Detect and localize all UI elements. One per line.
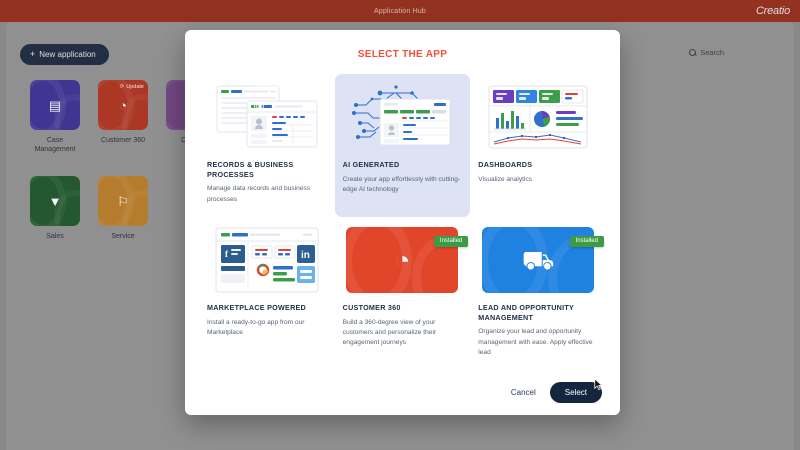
card-illustration bbox=[478, 81, 598, 153]
app-icon: ◔ bbox=[119, 99, 127, 112]
card-title: RECORDS & BUSINESS PROCESSES bbox=[207, 160, 327, 179]
app-icon: ◔ bbox=[395, 247, 411, 273]
marketplace-illustration: fin bbox=[215, 227, 319, 293]
app-icon: ▼ bbox=[49, 195, 62, 208]
installed-badge: Installed bbox=[570, 236, 604, 247]
app-type-card-field-sales[interactable]: ◔ bbox=[470, 370, 606, 375]
app-icon: ⚐ bbox=[117, 195, 129, 208]
app-type-card-records-business-processes[interactable]: RECORDS & BUSINESS PROCESSESManage data … bbox=[199, 74, 335, 217]
app-icon: ⛟ bbox=[522, 247, 555, 273]
dialog-title: SELECT THE APP bbox=[185, 30, 620, 74]
dialog-body[interactable]: RECORDS & BUSINESS PROCESSESManage data … bbox=[185, 74, 620, 375]
app-type-card-case-management[interactable]: ▤Installed bbox=[199, 370, 335, 375]
app-type-card-customer-360[interactable]: ◔InstalledCUSTOMER 360Build a 360-degree… bbox=[335, 217, 471, 370]
card-illustration: fin bbox=[207, 224, 327, 296]
update-badge[interactable]: ⟳Update bbox=[120, 84, 144, 90]
card-title: AI GENERATED bbox=[343, 160, 463, 170]
app-type-card-ai-generated[interactable]: AI GENERATEDCreate your app effortlessly… bbox=[335, 74, 471, 217]
app-icon: ▦ bbox=[321, 99, 333, 112]
app-icon: ▥ bbox=[253, 99, 265, 112]
app-root: Application Hub Creatio + New applicatio… bbox=[0, 0, 800, 450]
card-illustration bbox=[343, 81, 463, 153]
svg-text:in: in bbox=[301, 250, 310, 261]
card-description: Manage data records and business process… bbox=[207, 184, 327, 204]
cancel-button[interactable]: Cancel bbox=[511, 388, 536, 397]
app-type-card-marketing-campaigns[interactable]: ◱Installed bbox=[335, 370, 471, 375]
card-illustration bbox=[207, 81, 327, 153]
update-badge[interactable]: ⟳Update bbox=[256, 84, 280, 90]
ai-generated-illustration bbox=[350, 83, 454, 151]
dialog-footer: Cancel Select bbox=[185, 375, 620, 415]
card-description: Visualize analytics bbox=[478, 175, 598, 185]
refresh-icon: ⟳ bbox=[256, 84, 261, 90]
card-description: Organize your lead and opportunity manag… bbox=[478, 327, 598, 358]
card-description: Build a 360-degree view of your customer… bbox=[343, 318, 463, 349]
app-type-card-lead-and-opportunity-management[interactable]: ⛟InstalledLEAD AND OPPORTUNITY MANAGEMEN… bbox=[470, 217, 606, 370]
app-icon: ⚑ bbox=[185, 99, 197, 112]
card-title: CUSTOMER 360 bbox=[343, 303, 463, 313]
app-icon: ▤ bbox=[49, 99, 61, 112]
dashboards-illustration bbox=[488, 85, 588, 149]
app-type-card-dashboards[interactable]: DASHBOARDSVisualize analytics bbox=[470, 74, 606, 217]
card-illustration: ⛟Installed bbox=[478, 224, 598, 296]
installed-badge: Installed bbox=[434, 236, 468, 247]
mouse-cursor bbox=[594, 378, 603, 391]
card-title: MARKETPLACE POWERED bbox=[207, 303, 327, 313]
card-description: Create your app effortlessly with cuttin… bbox=[343, 175, 463, 195]
records-illustration bbox=[215, 83, 319, 151]
card-title: LEAD AND OPPORTUNITY MANAGEMENT bbox=[478, 303, 598, 322]
app-type-card-list: RECORDS & BUSINESS PROCESSESManage data … bbox=[199, 74, 606, 375]
card-illustration: ◔Installed bbox=[343, 224, 463, 296]
select-app-dialog: SELECT THE APP RECORDS & BUSINESS PROCES… bbox=[185, 30, 620, 415]
card-title: DASHBOARDS bbox=[478, 160, 598, 170]
card-description: Install a ready-to-go app from our Marke… bbox=[207, 318, 327, 338]
refresh-icon: ⟳ bbox=[120, 84, 125, 90]
app-type-card-marketplace-powered[interactable]: finMARKETPLACE POWEREDInstall a ready-to… bbox=[199, 217, 335, 370]
